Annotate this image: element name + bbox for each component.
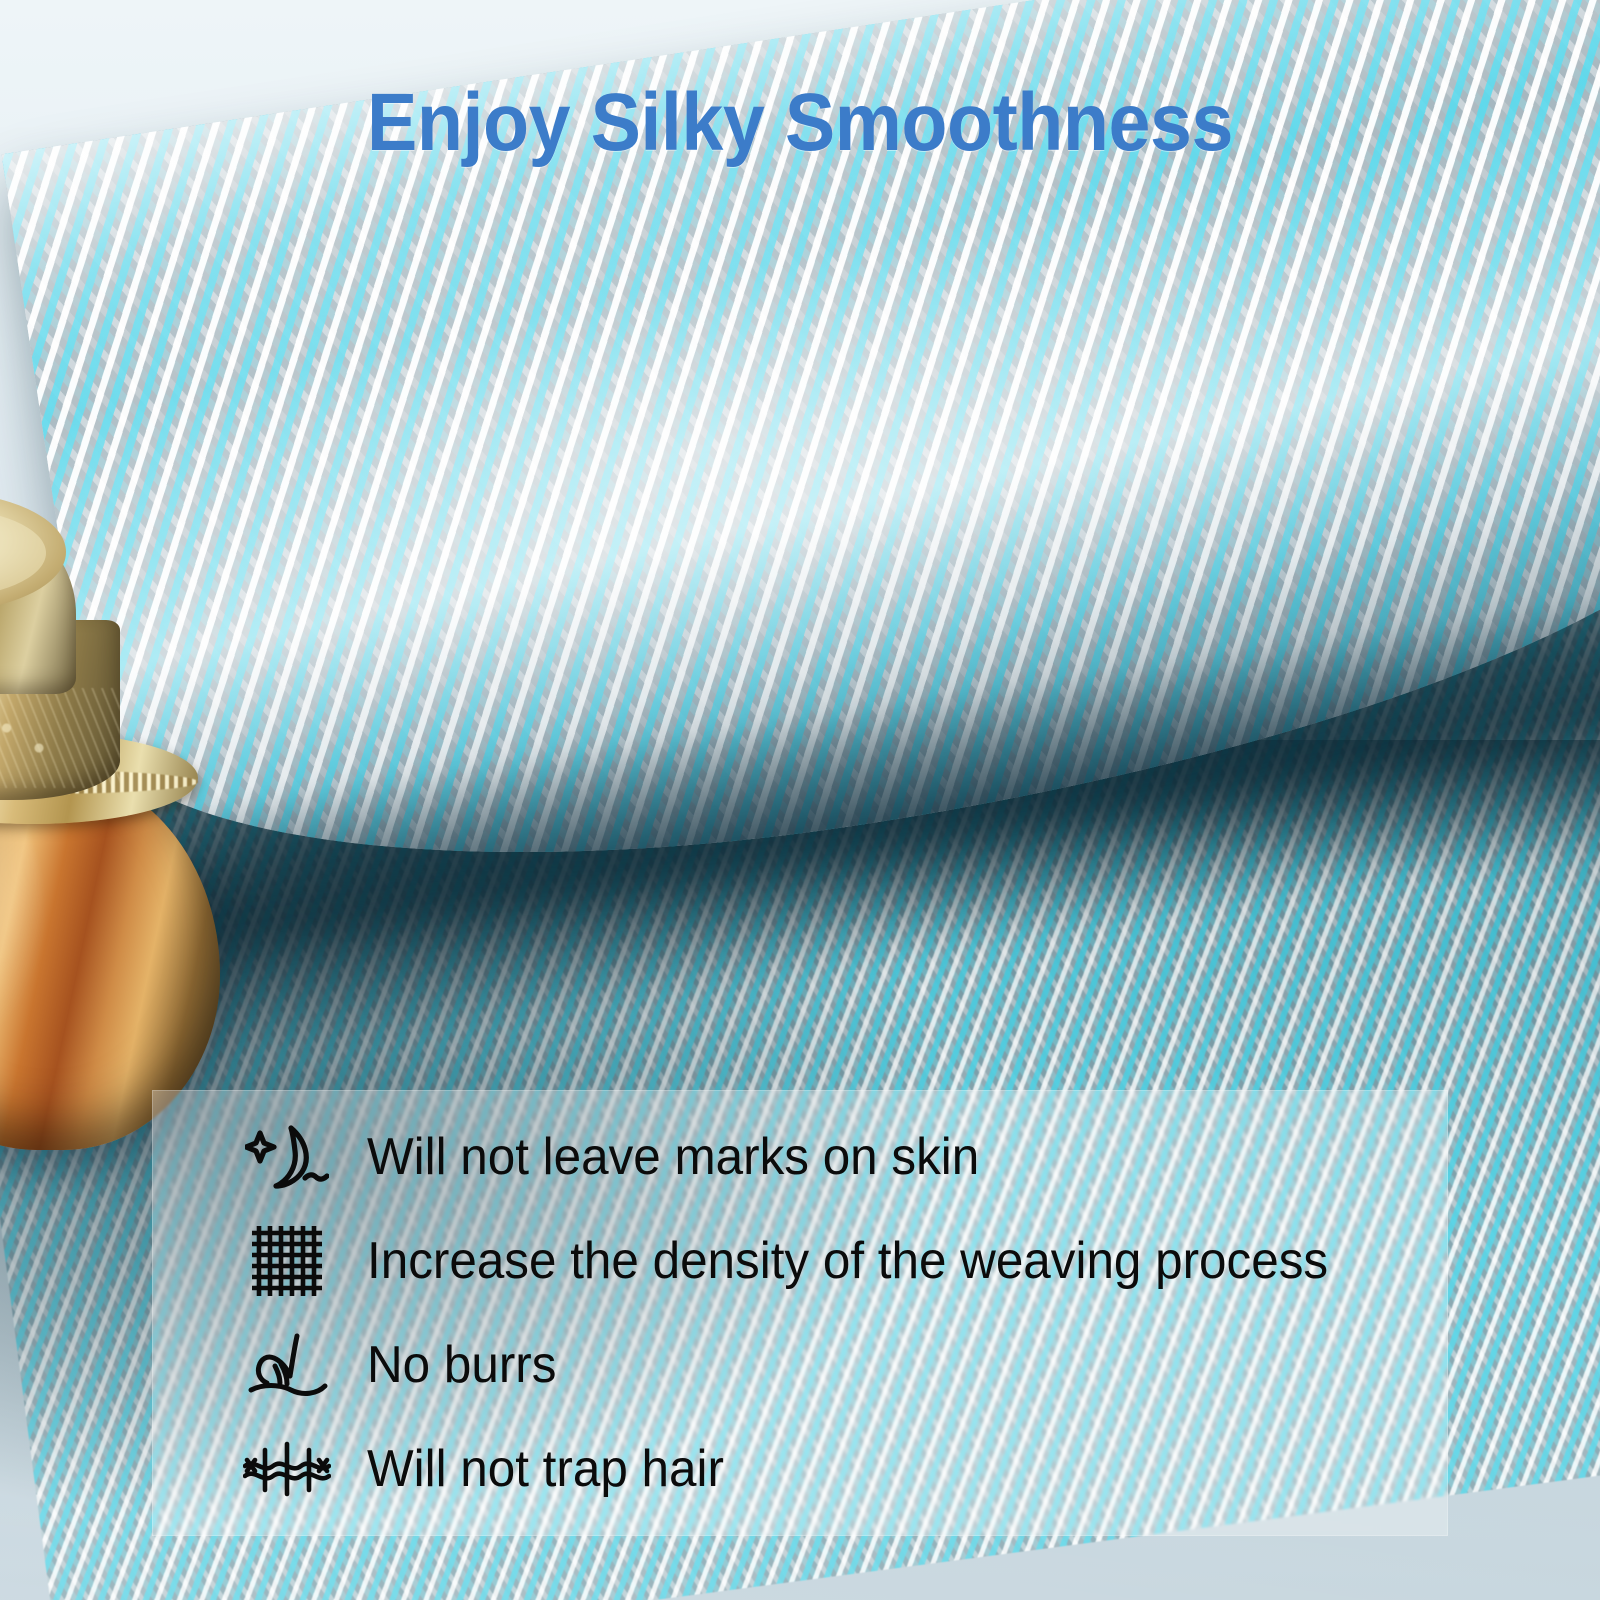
feature-list-panel: Will not leave marks on skin [152,1090,1448,1536]
feature-label: No burrs [367,1338,556,1393]
woven-grid-icon [243,1222,331,1300]
feature-label: Will not trap hair [367,1442,724,1497]
page-title: Enjoy Silky Smoothness [64,82,1536,164]
gold-ornate-jar [0,470,240,1170]
feature-item: Increase the density of the weaving proc… [243,1213,1447,1309]
feature-item: Will not leave marks on skin [243,1109,1447,1205]
barbed-strands-icon [243,1430,331,1508]
product-marketing-image: Enjoy Silky Smoothness Will not leave ma… [0,0,1600,1600]
jar-floral-engraving [0,688,120,788]
hand-smooth-icon [243,1326,331,1404]
feature-item: Will not trap hair [243,1421,1447,1517]
feature-label: Increase the density of the weaving proc… [367,1234,1328,1289]
feature-item: No burrs [243,1317,1447,1413]
moon-sparkle-icon [243,1118,331,1196]
feature-label: Will not leave marks on skin [367,1130,979,1185]
